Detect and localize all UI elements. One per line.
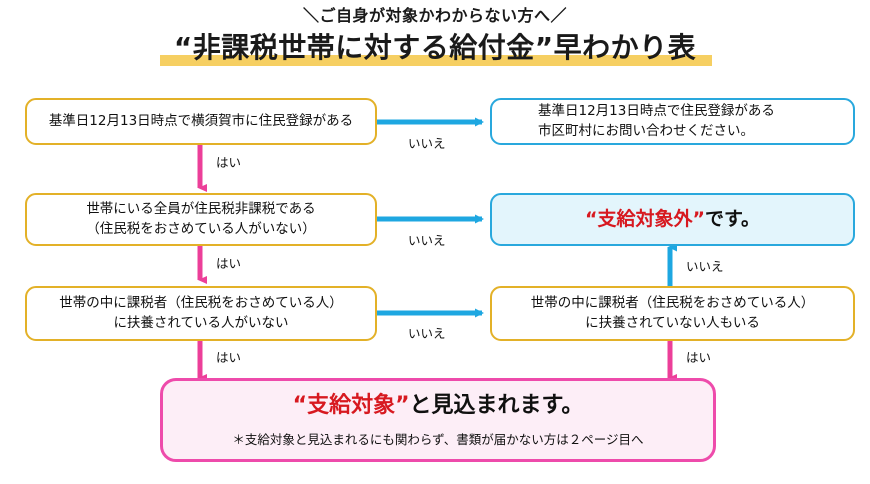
question-box-some-not-dependent[interactable]: 世帯の中に課税者（住民税をおさめている人） に扶養されていない人もいる	[490, 286, 855, 341]
edge-label-q1-no: いいえ	[408, 133, 446, 152]
result-eligible-main: “支給対象”と見込まれます。	[171, 390, 705, 422]
flowchart-page: ＼ご自身が対象かわからない方へ／ “非課税世帯に対する給付金”早わかり表	[0, 0, 870, 484]
result-other-municipality-line1: 基準日12月13日時点で住民登録がある	[538, 103, 775, 119]
result-not-eligible-tail: です。	[705, 208, 760, 230]
result-eligible-highlight: “支給対象”	[293, 393, 410, 418]
page-title-wrap: “非課税世帯に対する給付金”早わかり表	[0, 26, 870, 66]
edge-label-q3-right-yes: はい	[686, 347, 711, 366]
edge-label-q3-left-no: いいえ	[408, 323, 446, 342]
question-all-tax-exempt-line2: （住民税をおさめている人がいない）	[35, 220, 367, 240]
question-some-not-dependent-line2: に扶養されていない人もいる	[500, 314, 845, 334]
result-other-municipality-line2: 市区町村にお問い合わせください。	[538, 122, 845, 142]
result-eligible-note: ＊支給対象と見込まれるにも関わらず、書類が届かない方は２ページ目へ	[171, 431, 705, 449]
edge-label-q1-yes: はい	[216, 152, 241, 171]
page-subtitle: ＼ご自身が対象かわからない方へ／	[0, 2, 870, 26]
question-not-dependent-line1: 世帯の中に課税者（住民税をおさめている人）	[59, 295, 343, 311]
page-title: “非課税世帯に対する給付金”早わかり表	[170, 26, 700, 66]
edge-label-q3-left-yes: はい	[216, 347, 241, 366]
edge-label-q2-yes: はい	[216, 253, 241, 272]
result-box-other-municipality[interactable]: 基準日12月13日時点で住民登録がある 市区町村にお問い合わせください。	[490, 98, 855, 145]
result-not-eligible-highlight: “支給対象外”	[585, 208, 705, 230]
question-all-tax-exempt-line1: 世帯にいる全員が住民税非課税である	[86, 201, 315, 217]
edge-label-q3-right-no: いいえ	[686, 256, 724, 275]
edge-label-q2-no: いいえ	[408, 230, 446, 249]
result-box-eligible[interactable]: “支給対象”と見込まれます。 ＊支給対象と見込まれるにも関わらず、書類が届かない…	[160, 378, 716, 462]
question-box-not-dependent[interactable]: 世帯の中に課税者（住民税をおさめている人） に扶養されている人がいない	[25, 286, 377, 341]
question-not-dependent-line2: に扶養されている人がいない	[35, 314, 367, 334]
result-box-not-eligible[interactable]: “支給対象外”です。	[490, 193, 855, 246]
result-eligible-tail: と見込まれます。	[410, 393, 584, 418]
question-residency-line1: 基準日12月13日時点で横須賀市に住民登録がある	[49, 113, 353, 129]
question-box-residency[interactable]: 基準日12月13日時点で横須賀市に住民登録がある	[25, 98, 377, 145]
question-box-all-tax-exempt[interactable]: 世帯にいる全員が住民税非課税である （住民税をおさめている人がいない）	[25, 193, 377, 246]
question-some-not-dependent-line1: 世帯の中に課税者（住民税をおさめている人）	[531, 295, 815, 311]
